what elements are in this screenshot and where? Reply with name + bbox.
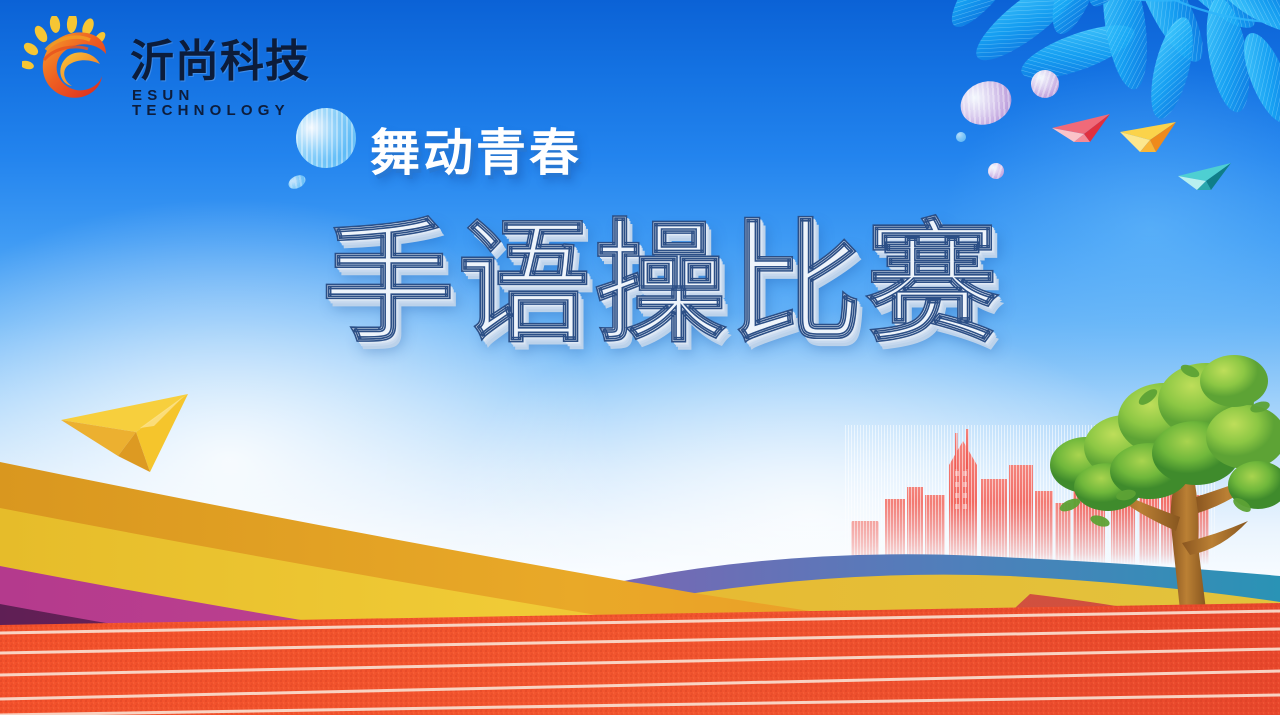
brand-name-cn: 沂尚科技 bbox=[130, 40, 310, 84]
poster-title: 手语操比赛 bbox=[322, 218, 1002, 350]
paper-plane-yellow-large bbox=[58, 388, 198, 485]
sun-swirl-logo-icon bbox=[22, 16, 122, 112]
paper-plane-red bbox=[1050, 112, 1112, 155]
poster-canvas: 沂尚科技 ESUN TECHNOLOGY 舞动青春 手语操比赛 bbox=[0, 0, 1280, 715]
bubble-cyan-tiny bbox=[956, 132, 966, 142]
paper-plane-teal bbox=[1176, 160, 1234, 203]
paper-plane-orange bbox=[1118, 118, 1180, 165]
bubble-pink-small bbox=[988, 163, 1004, 179]
brand-name-en: ESUN TECHNOLOGY bbox=[132, 88, 322, 118]
bubble-pink-medium bbox=[1031, 70, 1059, 98]
bubble-cyan-small bbox=[286, 172, 308, 191]
running-track bbox=[0, 595, 1280, 715]
brand-logo[interactable]: 沂尚科技 ESUN TECHNOLOGY bbox=[22, 16, 322, 112]
poster-subtitle: 舞动青春 bbox=[370, 128, 582, 178]
tree-decoration bbox=[1030, 345, 1280, 610]
swirl-mark bbox=[43, 32, 106, 97]
